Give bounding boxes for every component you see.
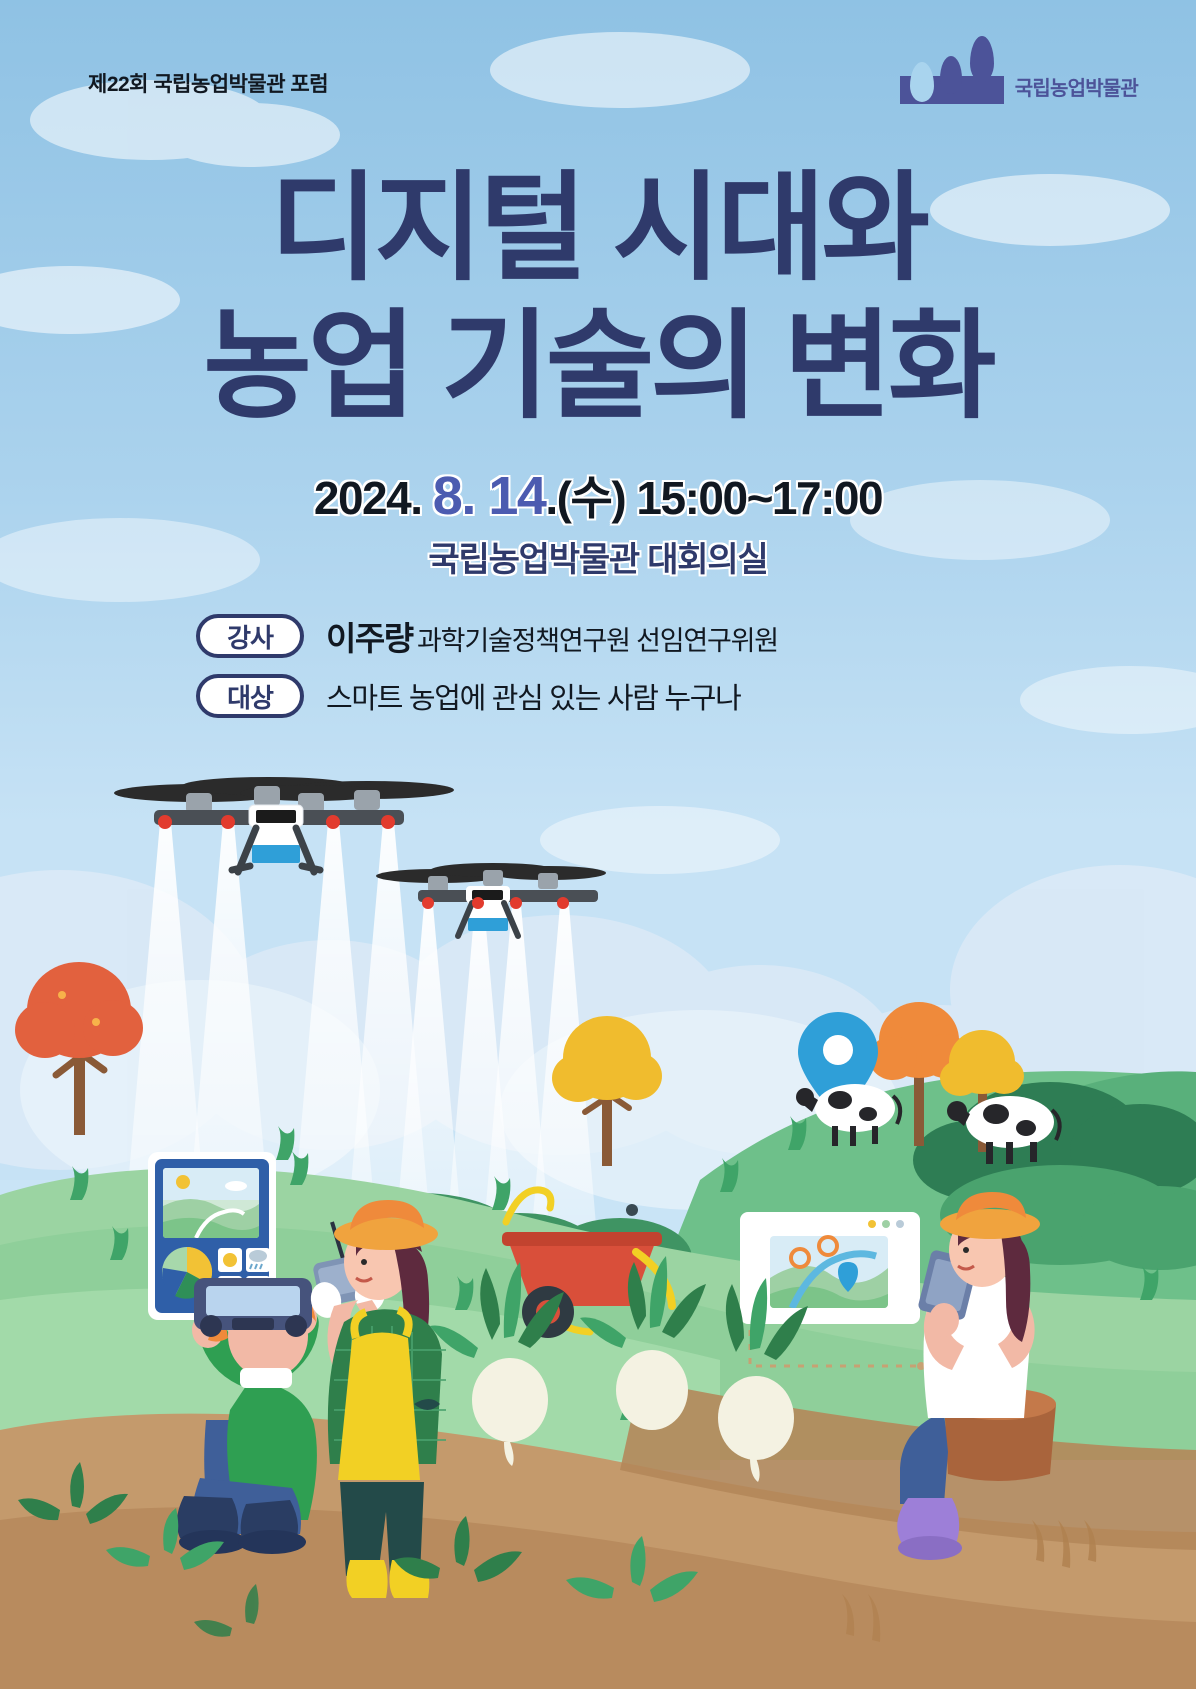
speaker-name: 이주량 — [326, 620, 413, 657]
logo-seed-icon-2 — [940, 56, 962, 94]
event-datetime: 2024. 8. 14.(수) 15:00~17:00 — [0, 462, 1196, 528]
event-day-time: .(수) 15:00~17:00 — [545, 472, 882, 524]
speaker-text: 이주량 과학기술정책연구원 선임연구위원 — [326, 612, 778, 660]
event-venue: 국립농업박물관 대회의실 — [0, 532, 1196, 581]
event-year: 2024. — [314, 472, 422, 524]
title-line-1: 디지털 시대와 — [0, 160, 1196, 298]
audience-desc: 스마트 농업에 관심 있는 사람 누구나 — [326, 683, 741, 715]
museum-logo-mark — [900, 52, 1004, 104]
museum-logo-text: 국립농업박물관 — [1015, 72, 1138, 104]
audience-text: 스마트 농업에 관심 있는 사람 누구나 — [326, 675, 741, 717]
info-row-speaker: 강사 이주량 과학기술정책연구원 선임연구위원 — [196, 612, 778, 660]
poster-root: 제22회 국립농업박물관 포럼 국립농업박물관 디지털 시대와 농업 기술의 변… — [0, 0, 1196, 1689]
badge-speaker: 강사 — [196, 614, 304, 658]
museum-logo: 국립농업박물관 — [900, 52, 1138, 104]
event-date: 8. 14 — [433, 466, 546, 526]
info-row-audience: 대상 스마트 농업에 관심 있는 사람 누구나 — [196, 674, 778, 718]
event-info-block: 강사 이주량 과학기술정책연구원 선임연구위원 대상 스마트 농업에 관심 있는… — [196, 612, 778, 732]
speaker-affiliation: 과학기술정책연구원 선임연구위원 — [417, 626, 778, 656]
logo-seed-icon-1 — [910, 62, 934, 102]
page-title: 디지털 시대와 농업 기술의 변화 — [0, 160, 1196, 436]
logo-seed-icon-3 — [970, 36, 994, 82]
title-line-2: 농업 기술의 변화 — [0, 298, 1196, 436]
badge-audience: 대상 — [196, 674, 304, 718]
eyebrow-text: 제22회 국립농업박물관 포럼 — [88, 68, 328, 98]
